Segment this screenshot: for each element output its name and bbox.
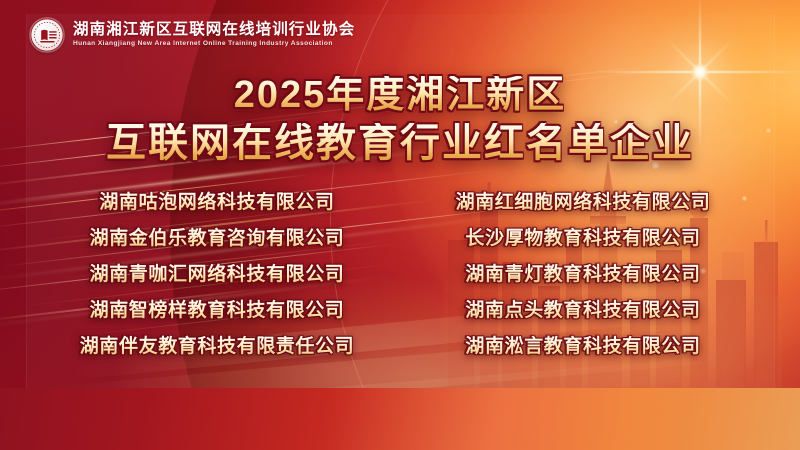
list-item: 湖南青咖汇网络科技有限公司 xyxy=(90,262,345,288)
company-column-right: 湖南红细胞网络科技有限公司 长沙厚物教育科技有限公司 湖南青灯教育科技有限公司 … xyxy=(418,190,748,360)
association-name-block: 湖南湘江新区互联网在线培训行业协会 Hunan Xiangjiang New A… xyxy=(73,22,355,48)
list-item: 湖南智榜样教育科技有限公司 xyxy=(90,298,345,324)
list-item: 湖南点头教育科技有限公司 xyxy=(465,298,700,324)
list-item: 湖南金伯乐教育咨询有限公司 xyxy=(90,226,345,252)
list-item: 湖南伴友教育科技有限责任公司 xyxy=(80,334,354,360)
list-item: 湖南咕泡网络科技有限公司 xyxy=(99,190,334,216)
list-item: 长沙厚物教育科技有限公司 xyxy=(465,226,700,252)
association-emblem-icon xyxy=(30,18,64,52)
list-item: 湖南青灯教育科技有限公司 xyxy=(465,262,700,288)
association-name-cn: 湖南湘江新区互联网在线培训行业协会 xyxy=(73,22,355,38)
association-header: 湖南湘江新区互联网在线培训行业协会 Hunan Xiangjiang New A… xyxy=(30,18,355,52)
list-item: 湖南红细胞网络科技有限公司 xyxy=(456,190,711,216)
poster-canvas: 湖南湘江新区互联网在线培训行业协会 Hunan Xiangjiang New A… xyxy=(0,0,800,450)
list-item: 湖南淞言教育科技有限公司 xyxy=(465,334,700,360)
company-lists: 湖南咕泡网络科技有限公司 湖南金伯乐教育咨询有限公司 湖南青咖汇网络科技有限公司… xyxy=(0,190,800,360)
association-name-en: Hunan Xiangjiang New Area Internet Onlin… xyxy=(73,41,355,48)
page-title-line-1: 2025年度湘江新区 xyxy=(0,76,800,114)
company-column-left: 湖南咕泡网络科技有限公司 湖南金伯乐教育咨询有限公司 湖南青咖汇网络科技有限公司… xyxy=(52,190,382,360)
page-title-line-2: 互联网在线教育行业红名单企业 xyxy=(0,123,800,163)
bottom-color-band xyxy=(0,388,800,450)
poster-title-block: 2025年度湘江新区 互联网在线教育行业红名单企业 xyxy=(0,76,800,163)
